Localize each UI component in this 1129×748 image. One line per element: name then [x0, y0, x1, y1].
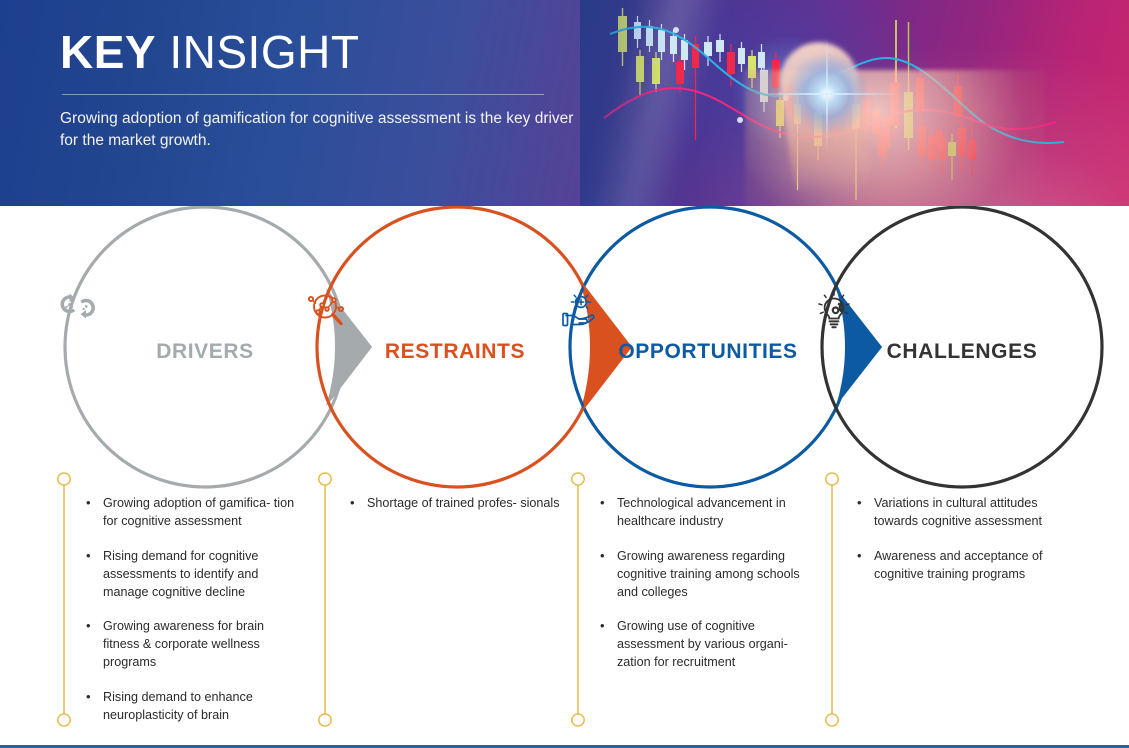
- lightbulb-gear-icon: [812, 291, 1112, 335]
- title-divider: [62, 94, 544, 95]
- lightbulb-gear-glyph: [812, 291, 856, 333]
- magnifier-network-glyph: [305, 291, 349, 331]
- list-item: Growing use of cognitive assessment by v…: [598, 618, 820, 672]
- page-title-bold: KEY: [60, 26, 156, 78]
- bullet-column-drivers: Growing adoption of gamifica- tion for c…: [84, 495, 302, 742]
- page-title: KEY INSIGHT: [60, 28, 580, 78]
- photo-edge-fade: [580, 0, 1129, 206]
- header-photo-stock-chart: [580, 0, 1129, 206]
- page-title-rest: INSIGHT: [156, 26, 359, 78]
- bullet-column-opportunities: Technological advancement in healthcare …: [598, 495, 820, 689]
- circle-row: DRIVERS RESTRAINTS: [0, 206, 1129, 496]
- list-item: Rising demand for cognitive assessments …: [84, 548, 302, 602]
- list-item: Growing awareness for brain fitness & co…: [84, 618, 302, 672]
- list-item: Rising demand to enhance neuroplasticity…: [84, 689, 302, 725]
- node-challenges[interactable]: CHALLENGES: [812, 291, 1112, 364]
- bullet-column-restraints: Shortage of trained profes- sionals: [348, 495, 570, 530]
- list-item: Variations in cultural attitudes towards…: [855, 495, 1073, 531]
- cycle-arrows-glyph: [55, 291, 101, 321]
- hand-holding-sun-glyph: [558, 291, 604, 333]
- bullet-column-challenges: Variations in cultural attitudes towards…: [855, 495, 1073, 601]
- infographic-page: KEY INSIGHT Growing adoption of gamifica…: [0, 0, 1129, 748]
- header-banner: KEY INSIGHT Growing adoption of gamifica…: [0, 0, 1129, 206]
- node-label-challenges: CHALLENGES: [812, 340, 1112, 364]
- list-item: Growing awareness regarding cognitive tr…: [598, 548, 820, 602]
- list-item: Shortage of trained profes- sionals: [348, 495, 570, 513]
- header-text-block: KEY INSIGHT Growing adoption of gamifica…: [60, 28, 580, 153]
- list-item: Growing adoption of gamifica- tion for c…: [84, 495, 302, 531]
- list-item: Awareness and acceptance of cognitive tr…: [855, 548, 1073, 584]
- bullet-columns: Growing adoption of gamifica- tion for c…: [0, 495, 1129, 735]
- list-item: Technological advancement in healthcare …: [598, 495, 820, 531]
- header-subtitle: Growing adoption of gamification for cog…: [60, 108, 580, 153]
